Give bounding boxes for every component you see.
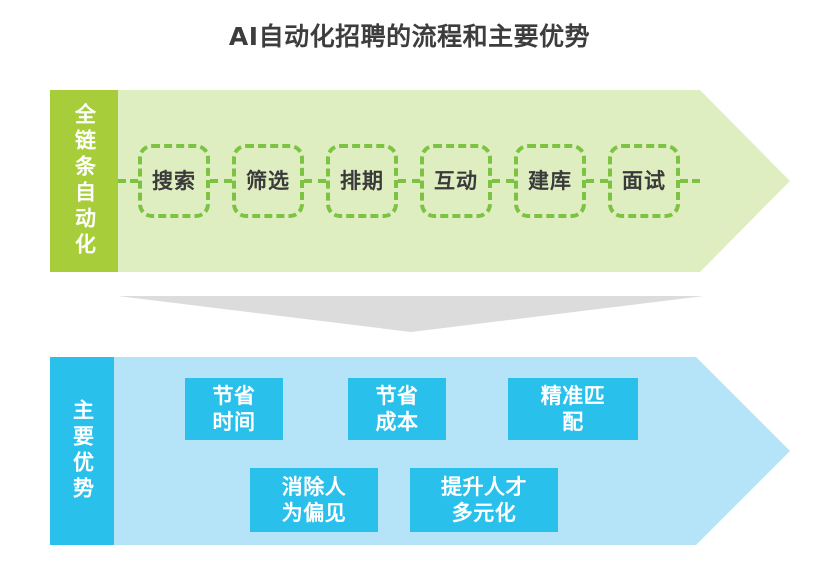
dashed-connector-4 <box>492 179 514 183</box>
benefit-save-time-line2: 时间 <box>213 409 256 435</box>
benefits-banner: 主要优势 节省 时间 节省 成本 精准匹 配 消除人 为偏见 <box>50 357 790 545</box>
benefit-save-cost[interactable]: 节省 成本 <box>348 378 446 440</box>
down-chevron-right-half <box>411 296 704 332</box>
benefit-precise-match-line1: 精准匹 <box>541 383 606 409</box>
dashed-connector-5 <box>586 179 608 183</box>
benefit-save-cost-line1: 节省 <box>376 383 419 409</box>
process-step-interaction[interactable]: 互动 <box>420 144 492 218</box>
down-chevron-icon <box>118 296 704 336</box>
process-step-scheduling[interactable]: 排期 <box>326 144 398 218</box>
dashed-connector-start <box>118 179 138 183</box>
benefit-talent-diversity-line1: 提升人才 <box>441 474 527 500</box>
process-step-track: 搜索 筛选 排期 互动 建库 面试 <box>118 90 700 272</box>
page-title: AI自动化招聘的流程和主要优势 <box>0 20 819 54</box>
process-banner-arrow-tip <box>700 90 790 272</box>
benefit-save-time-line1: 节省 <box>213 383 256 409</box>
dashed-connector-end <box>680 179 700 183</box>
dashed-connector-3 <box>398 179 420 183</box>
benefit-precise-match[interactable]: 精准匹 配 <box>508 378 638 440</box>
process-step-interview[interactable]: 面试 <box>608 144 680 218</box>
benefit-talent-diversity-line2: 多元化 <box>441 500 527 526</box>
benefits-grid: 节省 时间 节省 成本 精准匹 配 消除人 为偏见 提升人才 <box>114 357 790 545</box>
process-banner: 全链条自动化 搜索 筛选 排期 互动 建库 面试 <box>50 90 790 272</box>
benefits-banner-label: 主要优势 <box>50 357 114 545</box>
benefit-save-cost-line2: 成本 <box>376 409 419 435</box>
down-chevron-left-half <box>118 296 411 332</box>
dashed-connector-1 <box>210 179 232 183</box>
benefit-save-time[interactable]: 节省 时间 <box>185 378 283 440</box>
process-step-screening[interactable]: 筛选 <box>232 144 304 218</box>
benefit-precise-match-line2: 配 <box>541 409 606 435</box>
benefit-remove-bias[interactable]: 消除人 为偏见 <box>250 468 378 532</box>
benefit-remove-bias-line1: 消除人 <box>282 474 347 500</box>
process-step-search[interactable]: 搜索 <box>138 144 210 218</box>
process-banner-label: 全链条自动化 <box>50 90 118 272</box>
dashed-connector-2 <box>304 179 326 183</box>
process-step-database[interactable]: 建库 <box>514 144 586 218</box>
benefit-talent-diversity[interactable]: 提升人才 多元化 <box>410 468 558 532</box>
benefit-remove-bias-line2: 为偏见 <box>282 500 347 526</box>
